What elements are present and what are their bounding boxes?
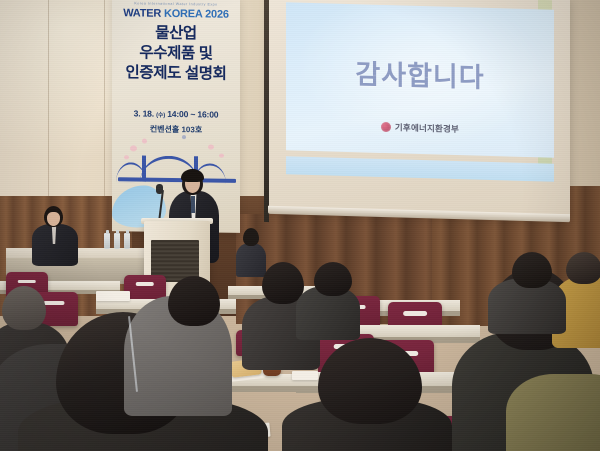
- attendee-olive-jacket-body: [506, 374, 600, 451]
- banner-brand-second: KOREA 2026: [164, 8, 229, 21]
- banner-heading-line-3: 인증제도 설명회: [112, 63, 240, 85]
- banner-heading-line-1: 물산업: [112, 23, 240, 45]
- blossom-icon: [182, 135, 186, 139]
- ministry-logo-text: 기후에너지환경부: [395, 121, 459, 135]
- conference-room-photo: 감사합니다 기후에너지환경부 Korea International Water…: [0, 0, 600, 451]
- microphone-icon: [156, 184, 163, 194]
- presentation-slide: 감사합니다 기후에너지환경부: [286, 2, 554, 157]
- banner-heading: 물산업 우수제품 및 인증제도 설명회: [112, 23, 240, 84]
- presenter-tie: [191, 196, 195, 213]
- blossom-icon: [142, 139, 147, 144]
- attendee-mid-right-back-head: [314, 262, 352, 296]
- banner-date: 3. 18. (수) 14:00 ~ 16:00: [112, 108, 240, 120]
- background-attendee-head: [243, 228, 259, 246]
- handout-paper: [96, 291, 130, 301]
- screen-left-edge: [264, 0, 269, 222]
- attendee-gray-sweater-head: [168, 276, 220, 326]
- blossom-icon: [124, 155, 129, 159]
- attendee-mustard-jacket-head: [566, 252, 600, 284]
- background-attendee-body: [236, 243, 266, 277]
- water-bottle: [104, 233, 110, 249]
- banner-kicker-text: Korea International Water Industry Expo: [112, 1, 240, 7]
- presenter-hair: [181, 169, 204, 182]
- blossom-icon: [219, 154, 224, 158]
- banner-brand-first: WATER: [123, 7, 164, 20]
- banner-date-value: 3. 18.: [134, 108, 157, 118]
- water-bottle: [114, 233, 120, 249]
- banner-time: 14:00 ~ 16:00: [165, 109, 218, 120]
- audience-table-edge: [222, 386, 310, 392]
- handout-paper: [292, 371, 318, 380]
- water-bottle: [124, 233, 130, 249]
- ministry-logo-icon: [381, 122, 391, 132]
- blossom-icon: [208, 144, 214, 149]
- blossom-icon: [130, 145, 137, 151]
- banner-brand: WATER KOREA 2026: [112, 7, 240, 21]
- banner-place: 컨벤션홀 103호: [112, 123, 240, 136]
- banner-weekday: (수): [156, 113, 165, 119]
- attendee-far-right-back-head: [512, 252, 552, 288]
- attendee-back-left-head: [2, 286, 46, 330]
- slide-title-text: 감사합니다: [286, 50, 554, 96]
- banner-heading-line-2: 우수제품 및: [112, 43, 240, 65]
